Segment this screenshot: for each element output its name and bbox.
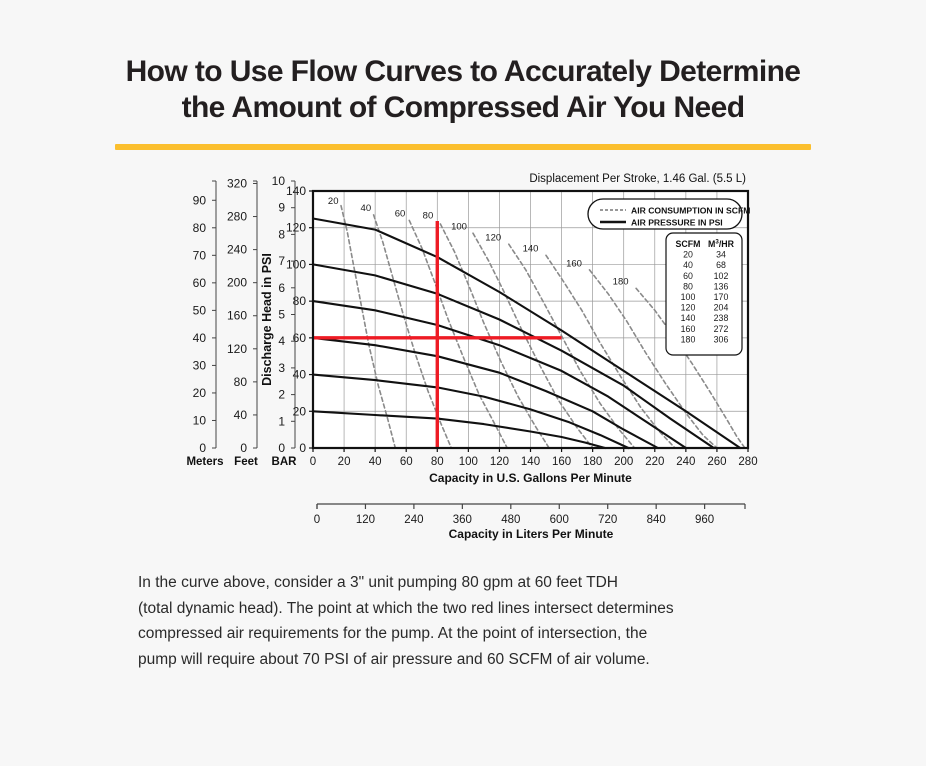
flow-curve-chart: 2040608010012014016018002040608010012014… — [0, 164, 926, 544]
conversion-table-cell-scfm: 100 — [681, 292, 696, 302]
liters-tick-label: 840 — [647, 514, 666, 526]
scfm-curve-label: 80 — [423, 211, 434, 222]
secondary-y-tick-label: 240 — [227, 243, 247, 257]
x-axis-primary: 020406080100120140160180200220240260280C… — [310, 448, 758, 485]
secondary-y-tick-label: 6 — [278, 281, 285, 295]
conversion-table-cell-m3hr: 306 — [714, 334, 729, 344]
y-tick-label: 0 — [299, 441, 306, 455]
secondary-y-tick-label: 60 — [193, 276, 207, 290]
liters-tick-label: 720 — [598, 514, 617, 526]
secondary-y-axis-title: BAR — [272, 456, 298, 468]
legend-label: AIR CONSUMPTION IN SCFM — [631, 206, 750, 216]
conversion-table-cell-m3hr: 272 — [714, 324, 729, 334]
secondary-y-tick-label: 320 — [227, 176, 247, 190]
secondary-y-tick-label: 7 — [278, 254, 285, 268]
secondary-y-tick-label: 10 — [193, 413, 207, 427]
secondary-y-tick-label: 200 — [227, 276, 247, 290]
secondary-y-tick-label: 0 — [278, 441, 285, 455]
x-tick-label: 0 — [310, 456, 316, 468]
x-tick-label: 140 — [521, 456, 540, 468]
page-title-line-1: How to Use Flow Curves to Accurately Det… — [83, 54, 843, 90]
x-tick-label: 260 — [707, 456, 726, 468]
secondary-y-tick-label: 50 — [193, 303, 207, 317]
body-copy-line-4: pump will require about 70 PSI of air pr… — [138, 647, 798, 673]
conversion-table-cell-scfm: 140 — [681, 313, 696, 323]
body-copy-line-3: compressed air requirements for the pump… — [138, 621, 798, 647]
secondary-y-tick-label: 1 — [278, 414, 285, 428]
x-tick-label: 280 — [738, 456, 757, 468]
conversion-table-cell-scfm: 180 — [681, 334, 696, 344]
conversion-table-cell-scfm: 160 — [681, 324, 696, 334]
x-tick-label: 200 — [614, 456, 633, 468]
flow-curve-figure: 2040608010012014016018002040608010012014… — [0, 164, 926, 544]
secondary-y-tick-label: 80 — [234, 375, 248, 389]
x-tick-label: 20 — [338, 456, 351, 468]
secondary-y-axis-title: Feet — [234, 456, 258, 468]
secondary-y-tick-label: 280 — [227, 210, 247, 224]
legend-label: AIR PRESSURE IN PSI — [631, 218, 723, 228]
y-tick-label: 100 — [286, 257, 306, 271]
x-tick-label: 40 — [369, 456, 382, 468]
conversion-table-cell-scfm: 20 — [683, 250, 693, 260]
secondary-y-tick-label: 90 — [193, 193, 207, 207]
liters-tick-label: 960 — [695, 514, 714, 526]
y-axis-title: Discharge Head in PSI — [260, 253, 274, 386]
page-header: How to Use Flow Curves to Accurately Det… — [0, 0, 926, 150]
conversion-table-cell-m3hr: 136 — [714, 281, 729, 291]
x-axis-title: Capacity in U.S. Gallons Per Minute — [429, 471, 632, 485]
conversion-table-header-scfm: SCFM — [676, 239, 701, 249]
secondary-y-tick-label: 70 — [193, 248, 207, 262]
secondary-y-tick-label: 3 — [278, 361, 285, 375]
liters-tick-label: 240 — [404, 514, 423, 526]
secondary-y-tick-label: 0 — [240, 441, 247, 455]
liters-axis-title: Capacity in Liters Per Minute — [449, 527, 614, 541]
conversion-table-cell-m3hr: 34 — [716, 250, 726, 260]
scfm-curve-label: 160 — [566, 258, 582, 269]
conversion-table-header-m3hr: M3/HR — [708, 239, 735, 249]
secondary-y-axis-title: Meters — [186, 456, 223, 468]
chart-title: Displacement Per Stroke, 1.46 Gal. (5.5 … — [529, 173, 746, 185]
page-title: How to Use Flow Curves to Accurately Det… — [83, 54, 843, 126]
y-axis-primary: 020406080100120140Discharge Head in PSI — [260, 184, 313, 455]
body-copy-line-2: (total dynamic head). The point at which… — [138, 596, 798, 622]
page-title-line-2: the Amount of Compressed Air You Need — [83, 90, 843, 126]
secondary-y-tick-label: 0 — [199, 441, 206, 455]
secondary-y-tick-label: 20 — [193, 386, 207, 400]
conversion-table-cell-m3hr: 102 — [714, 271, 729, 281]
conversion-table-cell-m3hr: 170 — [714, 292, 729, 302]
secondary-vertical-axes: 0102030405060708090Meters040801201602002… — [186, 174, 297, 468]
scfm-curve-label: 180 — [613, 277, 629, 288]
conversion-table-cell-m3hr: 204 — [714, 303, 729, 313]
scfm-curve-label: 40 — [361, 203, 372, 214]
secondary-y-tick-label: 4 — [278, 334, 285, 348]
body-copy-line-1: In the curve above, consider a 3" unit p… — [138, 570, 798, 596]
liters-tick-label: 600 — [550, 514, 569, 526]
secondary-y-tick-label: 40 — [193, 331, 207, 345]
secondary-y-tick-label: 30 — [193, 358, 207, 372]
x-tick-label: 240 — [676, 456, 695, 468]
x-tick-label: 180 — [583, 456, 602, 468]
conversion-table-cell-m3hr: 68 — [716, 260, 726, 270]
body-copy: In the curve above, consider a 3" unit p… — [138, 570, 798, 672]
liters-tick-label: 360 — [453, 514, 472, 526]
liters-tick-label: 0 — [314, 514, 320, 526]
x-tick-label: 80 — [431, 456, 444, 468]
y-tick-label: 120 — [286, 221, 306, 235]
secondary-y-tick-label: 9 — [278, 201, 285, 215]
body-copy-paragraph: In the curve above, consider a 3" unit p… — [138, 570, 798, 672]
x-tick-label: 60 — [400, 456, 413, 468]
x-tick-label: 120 — [490, 456, 509, 468]
conversion-table-box — [666, 233, 742, 355]
scfm-curve-label: 60 — [395, 209, 406, 220]
conversion-table-cell-scfm: 40 — [683, 260, 693, 270]
scfm-curve-label: 120 — [485, 233, 501, 244]
conversion-table-cell-scfm: 80 — [683, 281, 693, 291]
title-underline-rule — [115, 144, 811, 150]
x-tick-label: 220 — [645, 456, 664, 468]
conversion-table-cell-scfm: 120 — [681, 303, 696, 313]
y-tick-label: 140 — [286, 184, 306, 198]
x-axis-secondary: 0120240360480600720840960Capacity in Lit… — [314, 504, 745, 541]
x-tick-label: 100 — [459, 456, 478, 468]
scfm-curve-label: 140 — [523, 244, 539, 255]
page-root: How to Use Flow Curves to Accurately Det… — [0, 0, 926, 766]
scfm-curve-label: 20 — [328, 196, 339, 207]
conversion-table-cell-scfm: 60 — [683, 271, 693, 281]
secondary-y-tick-label: 80 — [193, 221, 207, 235]
secondary-y-tick-label: 10 — [272, 174, 286, 188]
liters-tick-label: 480 — [501, 514, 520, 526]
conversion-table: SCFMM3/HR2034406860102801361001701202041… — [666, 233, 742, 355]
conversion-table-cell-m3hr: 238 — [714, 313, 729, 323]
secondary-y-tick-label: 2 — [278, 388, 285, 402]
secondary-y-tick-label: 120 — [227, 342, 247, 356]
secondary-y-tick-label: 160 — [227, 309, 247, 323]
chart-legend: AIR CONSUMPTION IN SCFMAIR PRESSURE IN P… — [588, 199, 750, 229]
x-tick-label: 160 — [552, 456, 571, 468]
scfm-curve-label: 100 — [451, 222, 467, 233]
liters-tick-label: 120 — [356, 514, 375, 526]
secondary-y-tick-label: 5 — [278, 308, 285, 322]
secondary-y-tick-label: 8 — [278, 227, 285, 241]
secondary-y-tick-label: 40 — [234, 408, 248, 422]
